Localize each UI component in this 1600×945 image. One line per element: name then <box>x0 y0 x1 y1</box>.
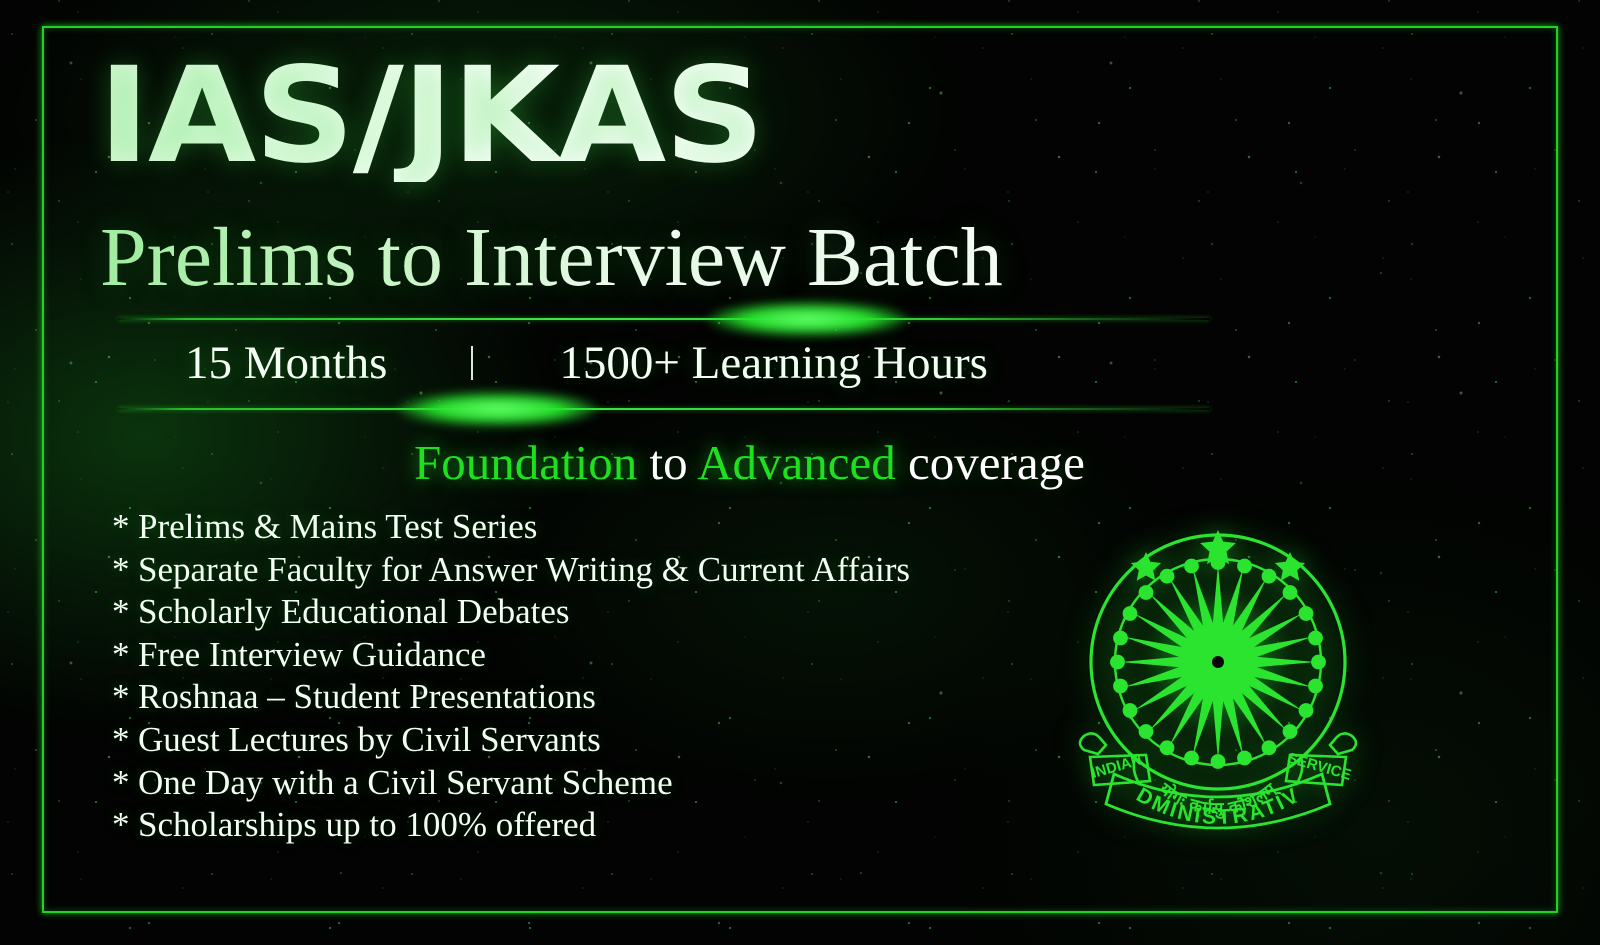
divider-glow-blob <box>708 302 908 336</box>
tagline-to: to <box>649 435 687 490</box>
promotional-poster: IAS/JKAS Prelims to Interview Batch 15 M… <box>0 0 1600 945</box>
emblem-banner-right: SERVICE <box>1285 749 1353 783</box>
list-item: *Free Interview Guidance <box>112 634 910 677</box>
poster-subtitle: Prelims to Interview Batch <box>100 216 1003 300</box>
bullet-star-icon: * <box>112 676 138 719</box>
list-item: *Guest Lectures by Civil Servants <box>112 719 910 762</box>
bullet-star-icon: * <box>112 634 138 677</box>
tagline-advanced: Advanced <box>697 435 896 490</box>
duration-months: 15 Months <box>185 336 387 390</box>
bullet-star-icon: * <box>112 549 138 592</box>
bullet-star-icon: * <box>112 719 138 762</box>
feature-label: Scholarly Educational Debates <box>138 592 570 631</box>
feature-list: *Prelims & Mains Test Series *Separate F… <box>112 506 910 847</box>
feature-label: Prelims & Mains Test Series <box>138 507 537 546</box>
bullet-star-icon: * <box>112 591 138 634</box>
indian-administrative-service-emblem-icon: योगः कर्मसु कौशलम् INDIAN SERVICE <box>1068 512 1368 842</box>
tagline-foundation: Foundation <box>414 435 637 490</box>
poster-title: IAS/JKAS <box>98 50 763 182</box>
list-item: *One Day with a Civil Servant Scheme <box>112 762 910 805</box>
duration-separator <box>471 346 473 380</box>
feature-label: Free Interview Guidance <box>138 635 486 674</box>
coverage-tagline: Foundation to Advanced coverage <box>414 434 1085 491</box>
list-item: *Scholarly Educational Debates <box>112 591 910 634</box>
divider-line-bottom <box>118 408 1210 410</box>
feature-label: Guest Lectures by Civil Servants <box>138 720 601 759</box>
list-item: *Separate Faculty for Answer Writing & C… <box>112 549 910 592</box>
feature-label: Scholarships up to 100% offered <box>138 805 596 844</box>
poster-content: IAS/JKAS Prelims to Interview Batch 15 M… <box>0 0 1600 945</box>
divider-line-top <box>118 318 1210 320</box>
bullet-star-icon: * <box>112 804 138 847</box>
feature-label: Roshnaa – Student Presentations <box>138 677 596 716</box>
list-item: *Roshnaa – Student Presentations <box>112 676 910 719</box>
bullet-star-icon: * <box>112 506 138 549</box>
list-item: *Scholarships up to 100% offered <box>112 804 910 847</box>
duration-hours: 1500+ Learning Hours <box>559 336 988 390</box>
tagline-coverage: coverage <box>908 435 1085 490</box>
feature-label: Separate Faculty for Answer Writing & Cu… <box>138 550 910 589</box>
bullet-star-icon: * <box>112 762 138 805</box>
list-item: *Prelims & Mains Test Series <box>112 506 910 549</box>
duration-row: 15 Months 1500+ Learning Hours <box>185 336 988 390</box>
divider-glow-blob <box>398 392 598 426</box>
feature-label: One Day with a Civil Servant Scheme <box>138 763 673 802</box>
